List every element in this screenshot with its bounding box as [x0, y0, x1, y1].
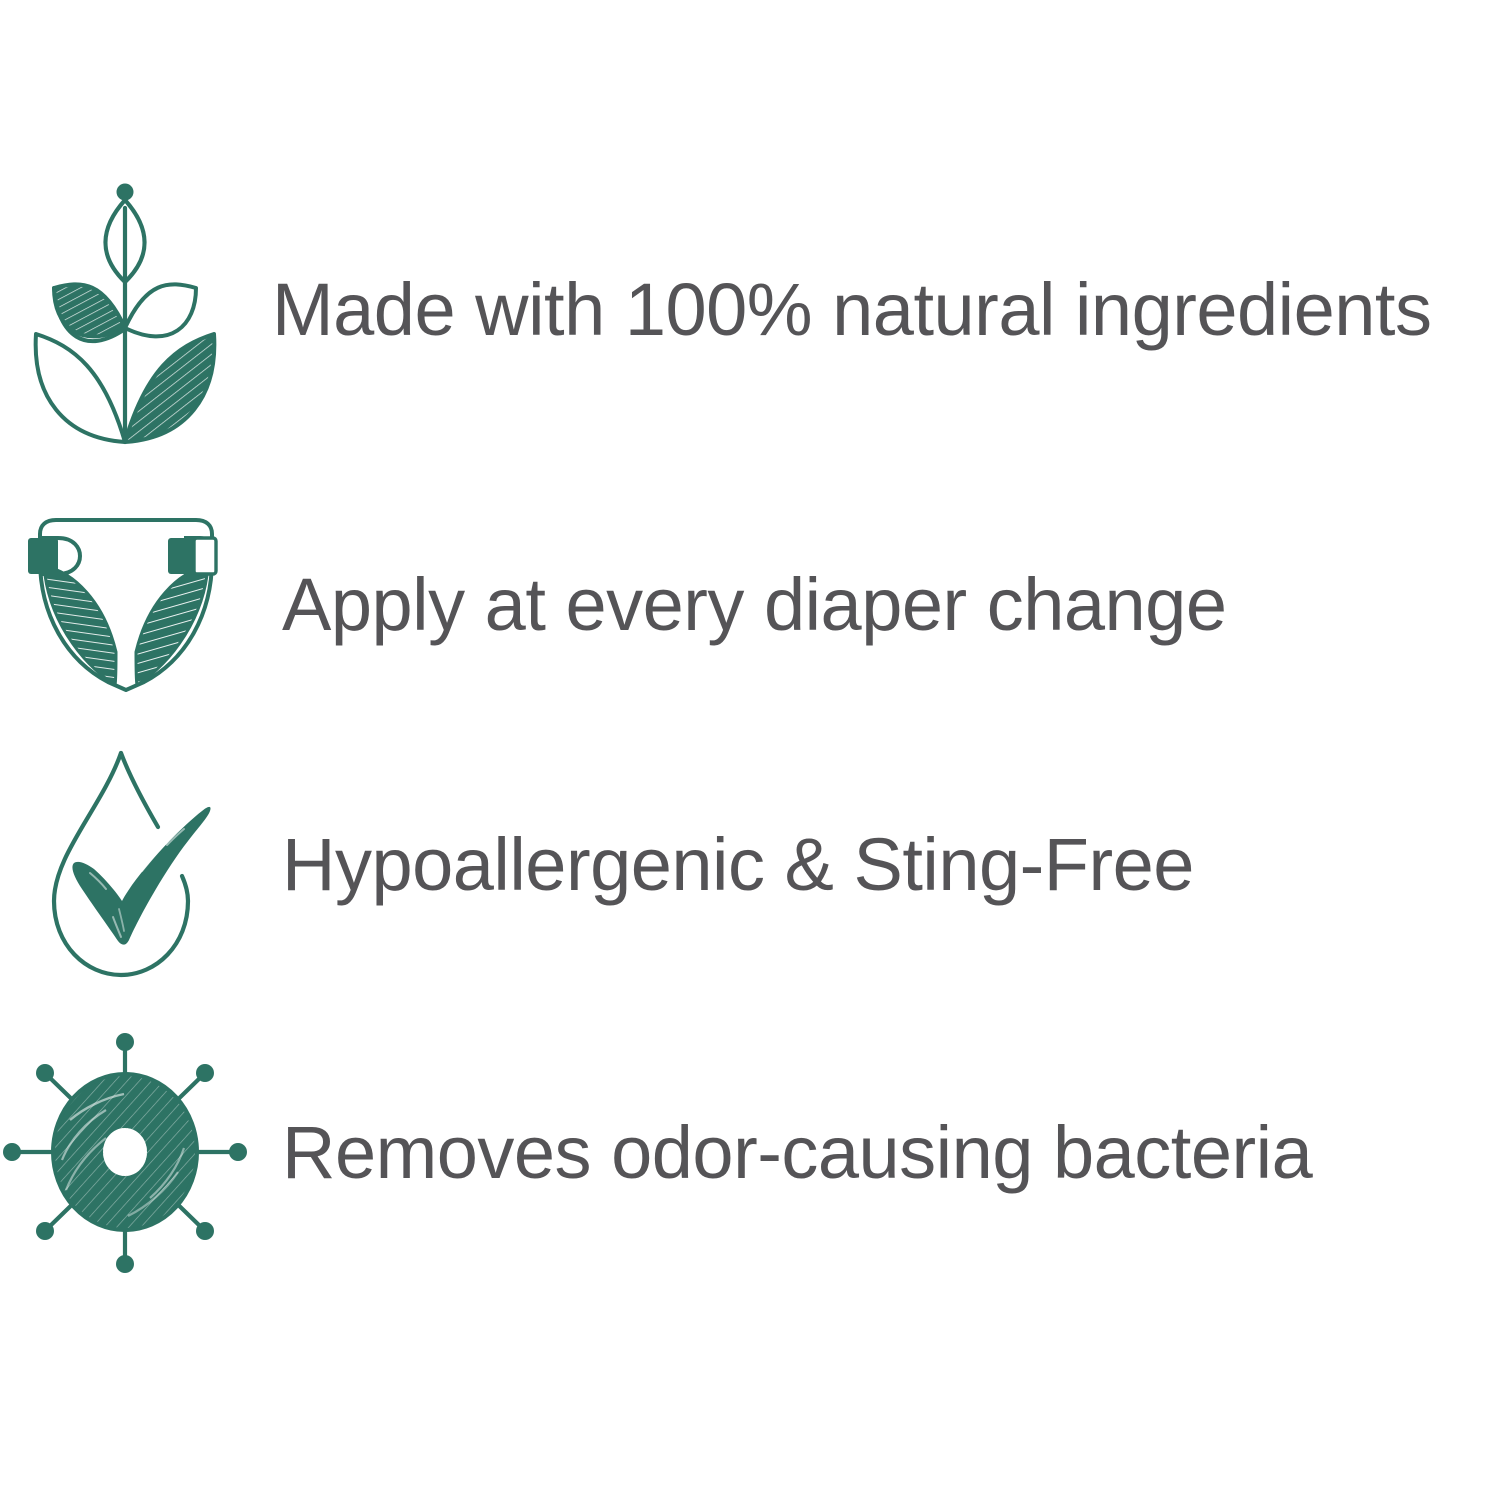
feature-row: Removes odor-causing bacteria — [0, 1020, 1500, 1285]
feature-label: Hypoallergenic & Sting-Free — [250, 826, 1500, 904]
feature-row: Made with 100% natural ingredients — [0, 170, 1500, 450]
feature-label: Apply at every diaper change — [250, 566, 1500, 644]
feature-row: Apply at every diaper change — [0, 500, 1500, 710]
feature-row: Hypoallergenic & Sting-Free — [0, 745, 1500, 985]
diaper-icon — [0, 510, 250, 700]
feature-label: Made with 100% natural ingredients — [250, 271, 1500, 349]
benefits-panel: Made with 100% natural ingredients — [0, 0, 1500, 1500]
droplet-check-icon — [0, 745, 250, 985]
feature-label: Removes odor-causing bacteria — [250, 1114, 1500, 1192]
bacteria-icon — [0, 1020, 250, 1285]
plant-sprout-icon — [0, 170, 250, 450]
